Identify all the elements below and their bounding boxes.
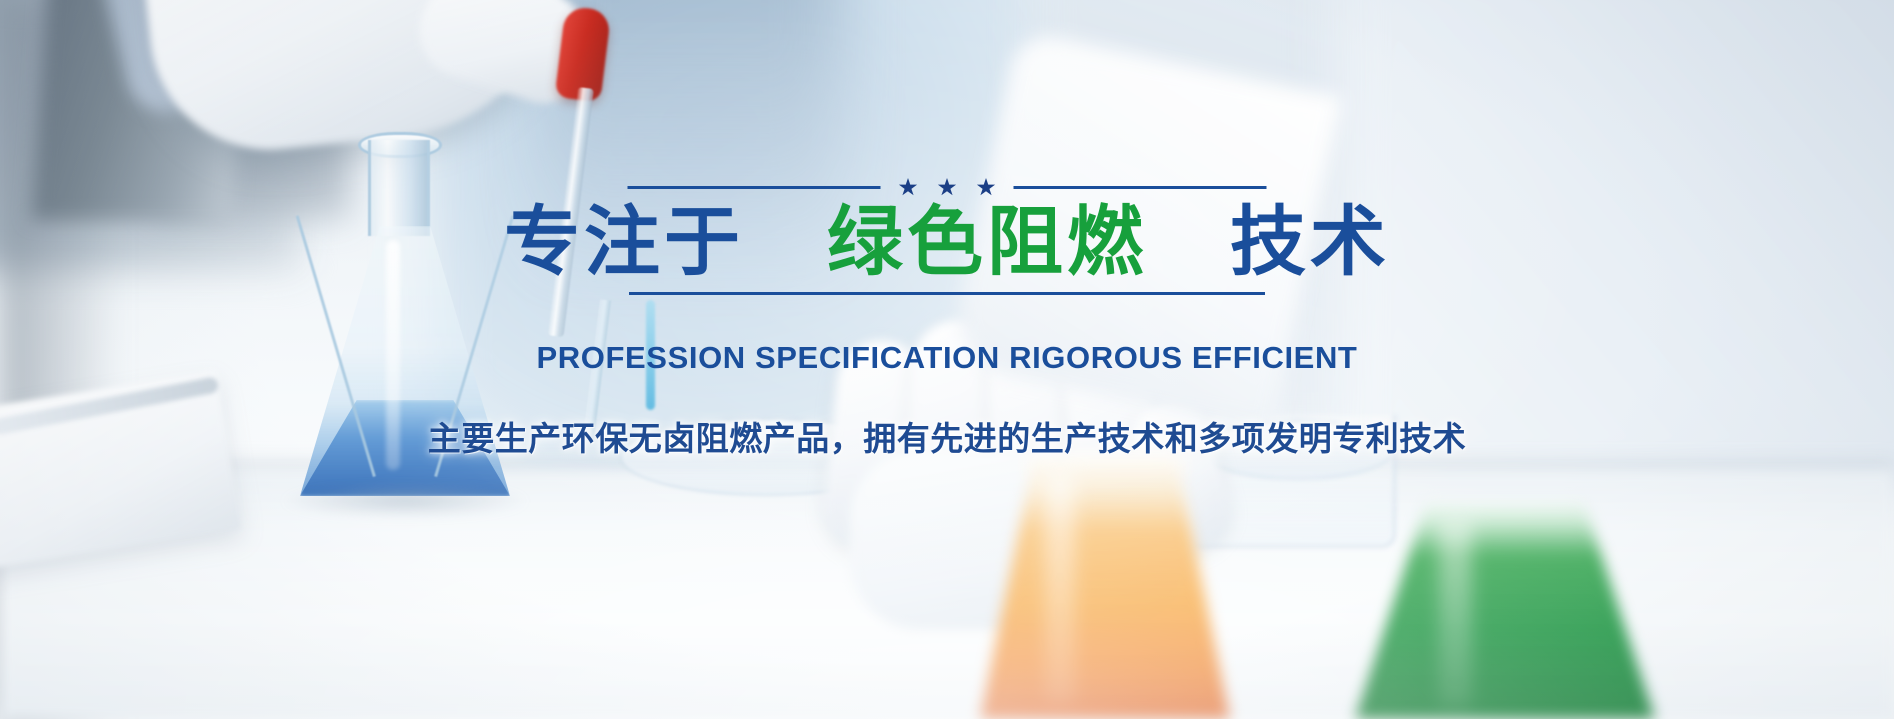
banner-content: 专注于 绿色阻燃 技术 PROFESSION SPECIFICATION RIG… <box>0 0 1894 719</box>
decorative-rule-right <box>1014 186 1267 189</box>
star-icon <box>977 178 996 197</box>
headline-part-three: 技术 <box>1230 197 1390 286</box>
star-group <box>897 178 998 197</box>
headline-part-two: 绿色阻燃 <box>827 197 1147 286</box>
banner-subtitle-english: PROFESSION SPECIFICATION RIGOROUS EFFICI… <box>0 339 1894 377</box>
banner-subtitle-chinese: 主要生产环保无卤阻燃产品，拥有先进的生产技术和多项发明专利技术 <box>0 415 1894 463</box>
decorative-rule-left <box>628 186 881 189</box>
star-icon <box>899 178 918 197</box>
headline-part-one: 专注于 <box>504 197 744 286</box>
hero-banner: 专注于 绿色阻燃 技术 PROFESSION SPECIFICATION RIG… <box>0 0 1894 719</box>
banner-headline: 专注于 绿色阻燃 技术 <box>0 196 1894 288</box>
decorative-rule-row <box>628 178 1267 197</box>
headline-underline <box>629 292 1265 295</box>
star-icon <box>938 178 957 197</box>
